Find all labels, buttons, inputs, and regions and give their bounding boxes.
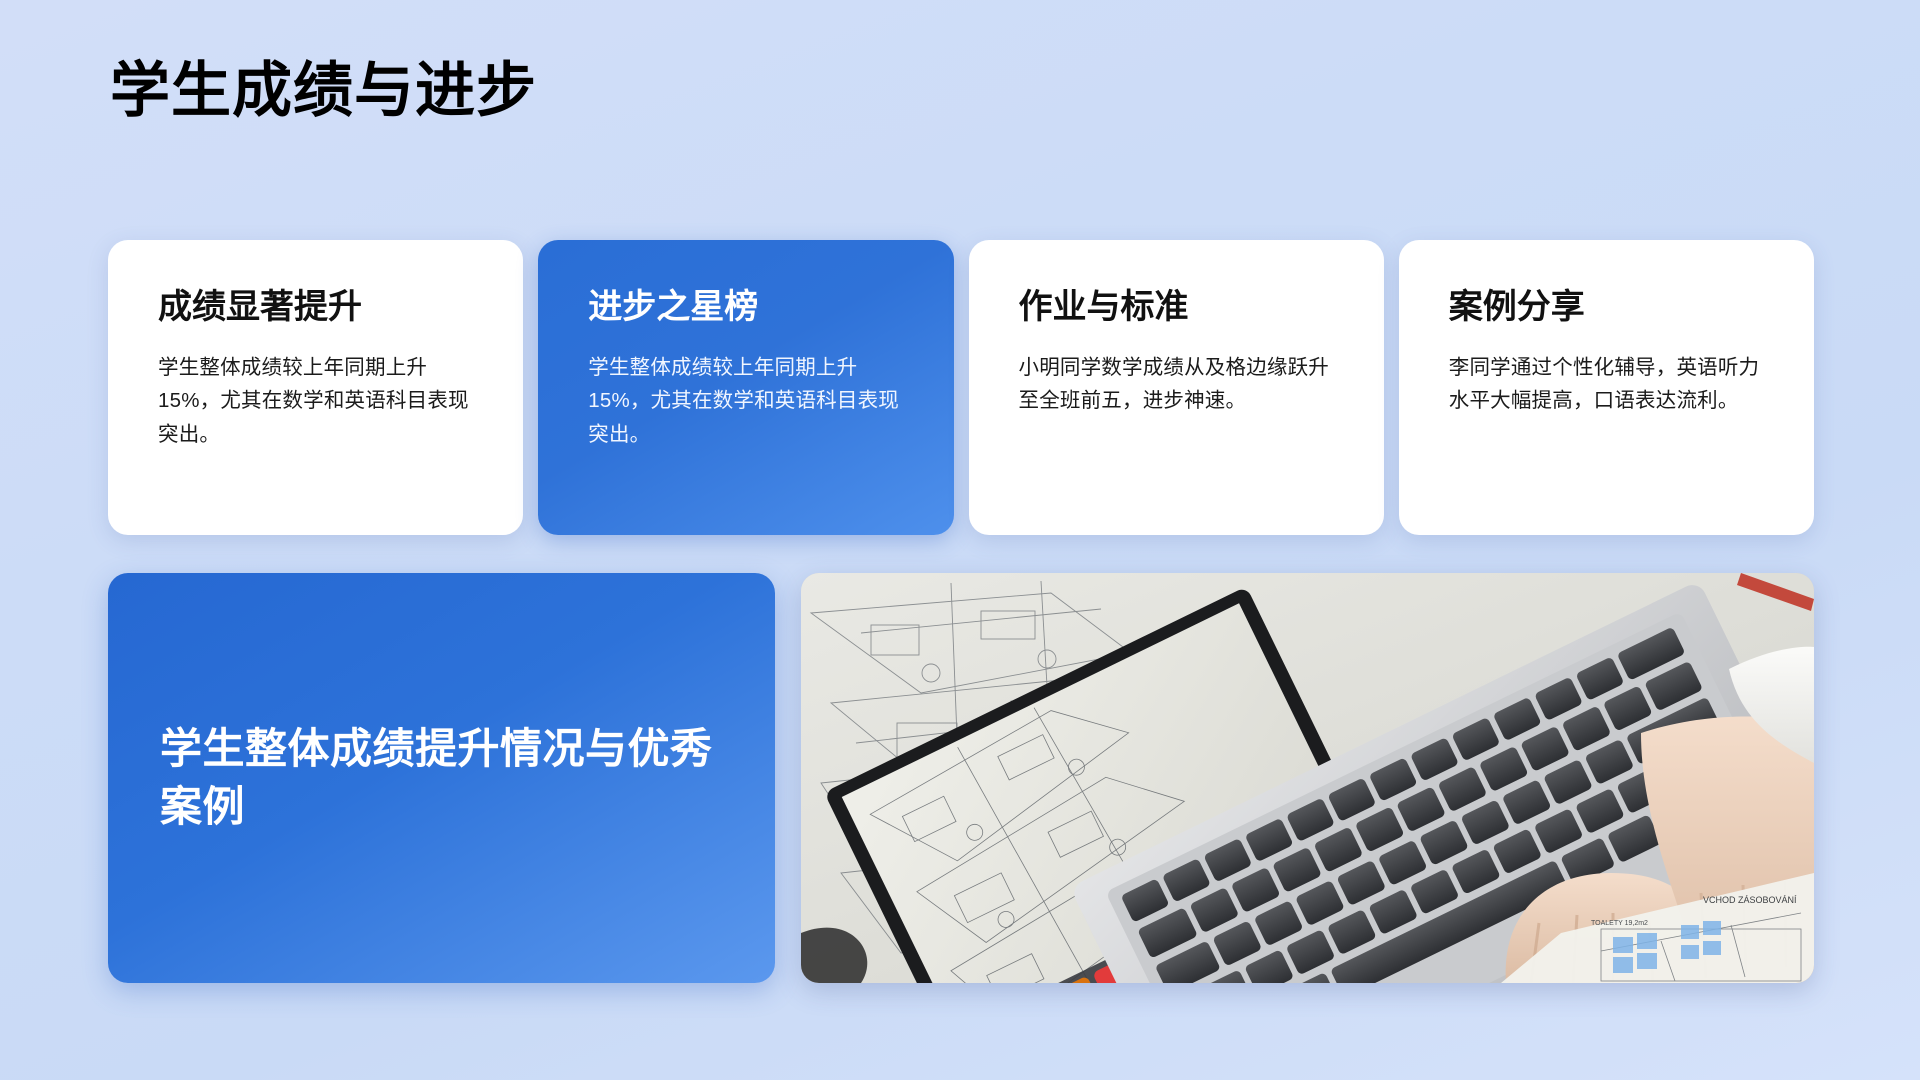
feature-card-row: 成绩显著提升 学生整体成绩较上年同期上升15%，尤其在数学和英语科目表现突出。 … xyxy=(108,240,1814,535)
svg-text:VCHOD ZÁSOBOVÁNÍ: VCHOD ZÁSOBOVÁNÍ xyxy=(1703,895,1797,905)
feature-card-2-body: 学生整体成绩较上年同期上升15%，尤其在数学和英语科目表现突出。 xyxy=(588,351,903,451)
laptop-typing-photo: VCHOD ZÁSOBOVÁNÍ TOALETY 19,2m2 xyxy=(801,573,1814,983)
feature-card-1-title: 成绩显著提升 xyxy=(158,288,473,327)
svg-text:TOALETY 19,2m2: TOALETY 19,2m2 xyxy=(1591,920,1648,927)
feature-card-3-title: 作业与标准 xyxy=(1019,288,1334,327)
bottom-row: 学生整体成绩提升情况与优秀案例 xyxy=(108,573,1814,983)
feature-card-3[interactable]: 作业与标准 小明同学数学成绩从及格边缘跃升至全班前五，进步神速。 xyxy=(969,240,1384,535)
feature-card-1-body: 学生整体成绩较上年同期上升15%，尤其在数学和英语科目表现突出。 xyxy=(158,351,473,451)
feature-summary-panel[interactable]: 学生整体成绩提升情况与优秀案例 xyxy=(108,573,775,983)
feature-card-3-body: 小明同学数学成绩从及格边缘跃升至全班前五，进步神速。 xyxy=(1019,351,1334,417)
slide-root: 学生成绩与进步 成绩显著提升 学生整体成绩较上年同期上升15%，尤其在数学和英语… xyxy=(0,0,1920,1080)
photo-illustration: VCHOD ZÁSOBOVÁNÍ TOALETY 19,2m2 xyxy=(801,573,1814,983)
page-title: 学生成绩与进步 xyxy=(110,58,537,124)
feature-card-4-title: 案例分享 xyxy=(1449,288,1764,327)
feature-card-4[interactable]: 案例分享 李同学通过个性化辅导，英语听力水平大幅提高，口语表达流利。 xyxy=(1399,240,1814,535)
feature-summary-heading: 学生整体成绩提升情况与优秀案例 xyxy=(160,720,723,836)
feature-card-1[interactable]: 成绩显著提升 学生整体成绩较上年同期上升15%，尤其在数学和英语科目表现突出。 xyxy=(108,240,523,535)
feature-card-2-title: 进步之星榜 xyxy=(588,288,903,327)
feature-card-4-body: 李同学通过个性化辅导，英语听力水平大幅提高，口语表达流利。 xyxy=(1449,351,1764,417)
feature-card-2[interactable]: 进步之星榜 学生整体成绩较上年同期上升15%，尤其在数学和英语科目表现突出。 xyxy=(538,240,953,535)
